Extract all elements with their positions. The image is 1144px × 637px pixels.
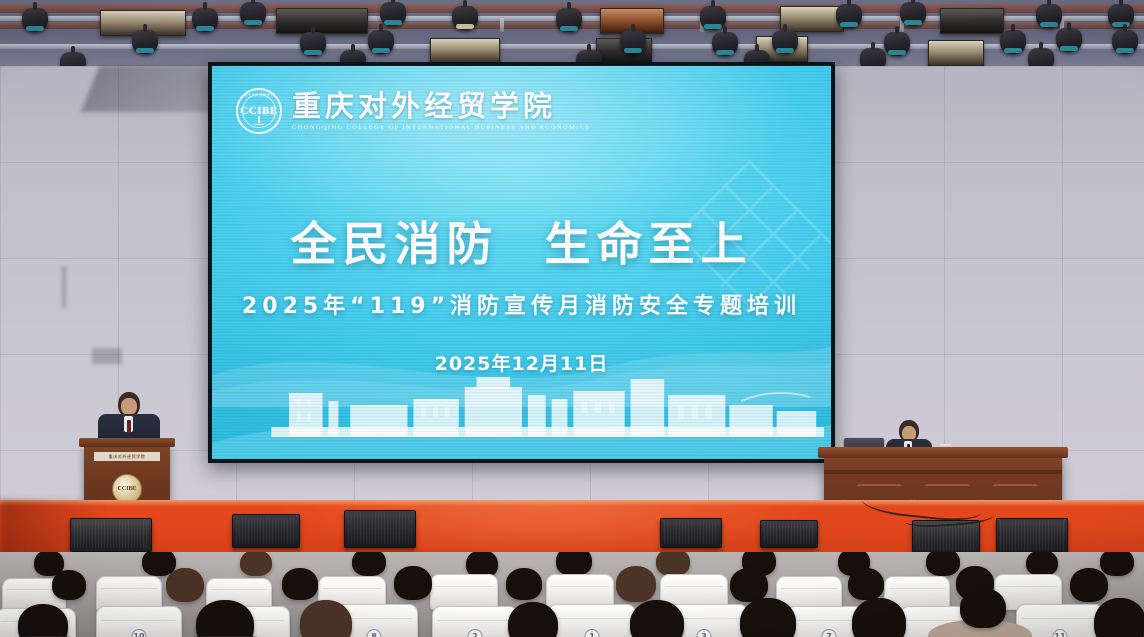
audience-head: [240, 552, 272, 576]
seat-number: 2: [468, 629, 483, 637]
slide-title-left: 全民消防: [291, 217, 499, 271]
audience-head: [1094, 598, 1144, 637]
spotlight-icon: [22, 8, 48, 32]
audience-head: [656, 552, 690, 576]
audience-head: [926, 552, 960, 576]
podium-nameplate: 重庆对外经贸学院: [94, 452, 160, 461]
university-logo-icon: 重庆对外经贸学院 CCIBE: [236, 88, 282, 134]
stage-panel-light: [928, 40, 984, 66]
seat-number: 8: [367, 629, 382, 637]
spotlight-icon: [1108, 4, 1134, 28]
logo-arc-text: 重庆对外经贸学院: [238, 93, 280, 98]
audience-seat: [430, 574, 498, 610]
slide-canvas: 重庆对外经贸学院 CCIBE 重庆对外经贸学院 CHONGQING COLLEG…: [212, 66, 831, 459]
spotlight-icon: [300, 32, 326, 56]
audience-head: [616, 566, 656, 602]
audience-seat: 10: [96, 606, 182, 637]
stage-panel-light: [430, 38, 500, 64]
floor-monitor-speaker: [232, 514, 300, 548]
audience-head: [1070, 568, 1108, 602]
spotlight-icon: [1056, 28, 1082, 52]
floor-monitor-speaker: [70, 518, 152, 552]
spotlight-icon: [380, 2, 406, 26]
seat-number: 11: [1053, 629, 1068, 637]
slide-title-right: 生命至上: [545, 217, 753, 271]
presenter-tie: [127, 420, 131, 433]
audience-head: [848, 568, 884, 600]
spotlight-icon: [712, 32, 738, 56]
audience-seat: 1: [548, 604, 636, 637]
audience-head: [960, 588, 1006, 628]
slide-title: 全民消防生命至上: [212, 208, 831, 274]
podium-emblem-text: CCIBE: [117, 486, 136, 492]
audience-head: [1100, 552, 1134, 576]
audience-head: [394, 566, 432, 600]
spotlight-icon: [884, 32, 910, 56]
presenter-face: [121, 398, 137, 415]
university-names: 重庆对外经贸学院 CHONGQING COLLEGE OF INTERNATIO…: [292, 91, 590, 131]
led-presentation-screen: 重庆对外经贸学院 CCIBE 重庆对外经贸学院 CHONGQING COLLEG…: [208, 62, 835, 463]
audience-seat: 2: [432, 606, 518, 637]
audience-head: [506, 568, 542, 600]
spotlight-icon: [132, 30, 158, 54]
spotlight-icon: [192, 8, 218, 32]
audience-head: [556, 552, 592, 576]
slide-subtitle: 2025年“119”消防宣传月消防安全专题培训: [212, 288, 831, 320]
logo-torch-icon: [254, 116, 264, 125]
university-identity: 重庆对外经贸学院 CCIBE 重庆对外经贸学院 CHONGQING COLLEG…: [236, 88, 590, 134]
desk-rail: [824, 470, 1062, 474]
spotlight-icon: [836, 4, 862, 28]
stage-panel-light: [940, 8, 1004, 34]
spotlight-icon: [368, 30, 394, 54]
audience-seating-area: 10 8 2 1 3 7 11: [0, 552, 1144, 637]
seat-number: 3: [697, 629, 712, 637]
spotlight-icon: [452, 6, 478, 30]
university-name-cn: 重庆对外经贸学院: [292, 91, 590, 121]
spotlight-icon: [900, 2, 926, 26]
seat-number: 7: [822, 629, 837, 637]
audience-head: [630, 600, 684, 637]
campus-skyline-graphic: [212, 365, 831, 449]
spotlight-icon: [772, 30, 798, 54]
stage-panel-light: [780, 6, 844, 32]
audience-head: [1026, 552, 1058, 576]
spotlight-icon: [1036, 4, 1062, 28]
wall-mark: [92, 348, 122, 364]
auditorium-scene: 重庆对外经贸学院 CCIBE 重庆对外经贸学院 CHONGQING COLLEG…: [0, 0, 1144, 637]
podium-nameplate-text: 重庆对外经贸学院: [109, 454, 146, 460]
audience-head: [282, 568, 318, 600]
spotlight-icon: [620, 30, 646, 54]
spotlight-icon: [1000, 30, 1026, 54]
floor-monitor-speaker: [660, 518, 722, 548]
floor-monitor-speaker: [344, 510, 416, 548]
truss-post: [500, 18, 504, 32]
spotlight-icon: [556, 8, 582, 32]
university-name-en: CHONGQING COLLEGE OF INTERNATIONAL BUSIN…: [292, 124, 590, 131]
seat-number: 10: [132, 629, 147, 637]
floor-monitor-speaker: [996, 518, 1068, 554]
audience-head: [166, 568, 204, 602]
audience-head: [18, 604, 68, 637]
audience-head: [730, 568, 768, 602]
audience-head: [352, 552, 386, 576]
audience-head: [508, 602, 558, 637]
spotlight-icon: [1112, 30, 1138, 54]
wall-mark: [62, 266, 66, 308]
desk-top-edge: [818, 447, 1068, 458]
spotlight-icon: [240, 2, 266, 26]
audience-head: [300, 600, 352, 637]
floor-monitor-speaker: [760, 520, 818, 548]
stage-panel-light: [276, 8, 368, 34]
audience-head: [852, 598, 906, 637]
spotlight-icon: [700, 6, 726, 30]
audience-head: [740, 598, 796, 637]
podium-top-edge: [79, 438, 175, 447]
seat-number: 1: [585, 629, 600, 637]
audience-head: [52, 570, 86, 600]
